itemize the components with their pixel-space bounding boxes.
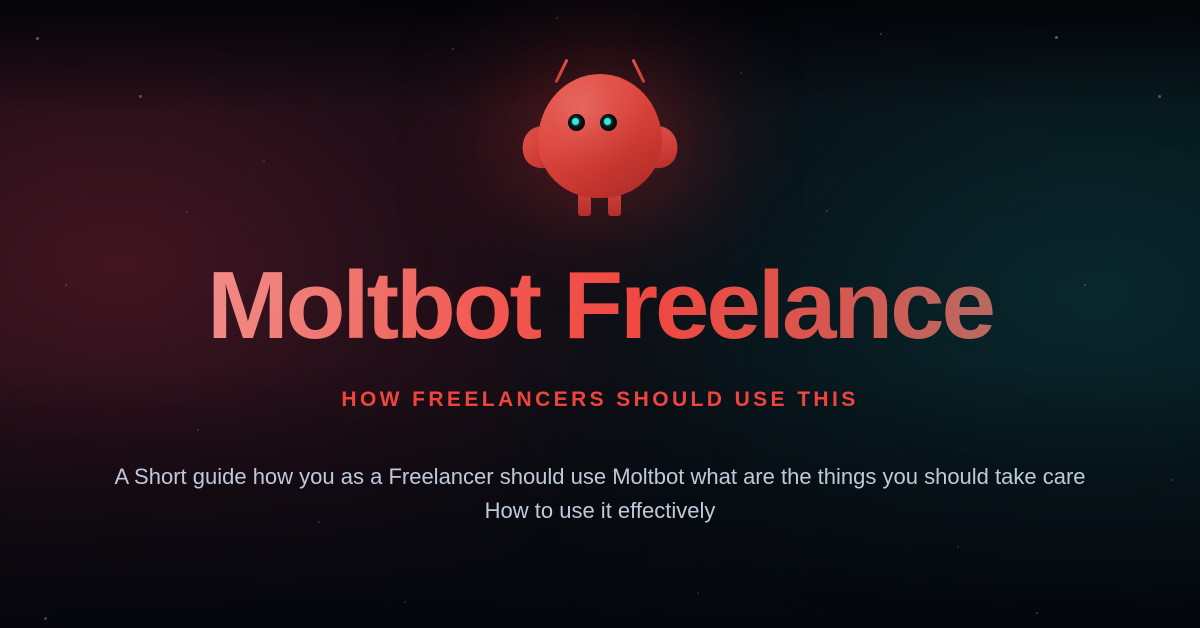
antenna-left-icon: [554, 59, 568, 84]
moltbot-mascot-icon: [520, 52, 680, 222]
mascot-container: [0, 42, 1200, 232]
mascot-body: [538, 74, 662, 198]
page-description: A Short guide how you as a Freelancer sh…: [0, 460, 1200, 528]
eye-left-icon: [568, 114, 585, 131]
page-title: Moltbot Freelance: [0, 258, 1200, 354]
description-line-1: A Short guide how you as a Freelancer sh…: [0, 460, 1200, 494]
description-line-2: How to use it effectively: [0, 494, 1200, 528]
page-subtitle: HOW FREELANCERS SHOULD USE THIS: [0, 388, 1200, 412]
eye-right-icon: [600, 114, 617, 131]
hero-banner: Moltbot Freelance HOW FREELANCERS SHOULD…: [0, 0, 1200, 628]
antenna-right-icon: [631, 59, 645, 84]
